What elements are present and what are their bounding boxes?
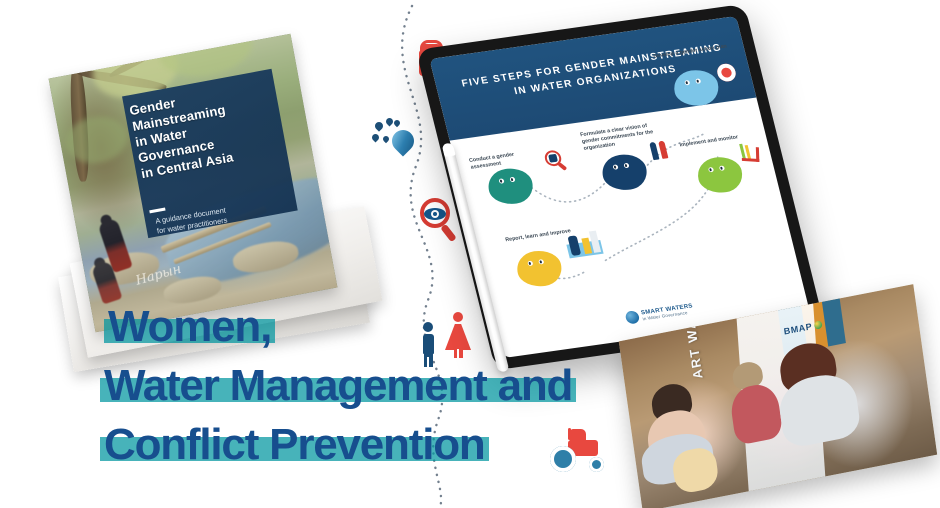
- headline-row-3: Conflict Prevention: [100, 423, 620, 468]
- headline-line-2: Water Management and: [100, 364, 576, 409]
- headline-line-3: Conflict Prevention: [100, 423, 489, 468]
- brochure-logo-dot: [814, 320, 823, 329]
- water-drops-icon: [372, 118, 420, 160]
- step-5-chart-icon: [564, 230, 606, 260]
- guidance-document-cover: Gender Mainstreaming in Water Governance…: [49, 34, 338, 333]
- headline-row-1: Women,: [104, 305, 620, 350]
- globe-icon: [624, 310, 640, 324]
- headline-row-2: Water Management and: [100, 364, 620, 409]
- headline-line-1: Women,: [104, 305, 275, 350]
- headline-block: Women, Water Management and Conflict Pre…: [100, 305, 620, 468]
- printed-document-stack: Country and Project OSCE Country and Pro…: [58, 46, 388, 346]
- promotional-banner: Country and Project OSCE Country and Pro…: [0, 0, 940, 508]
- cover-photograph: Gender Mainstreaming in Water Governance…: [49, 34, 338, 333]
